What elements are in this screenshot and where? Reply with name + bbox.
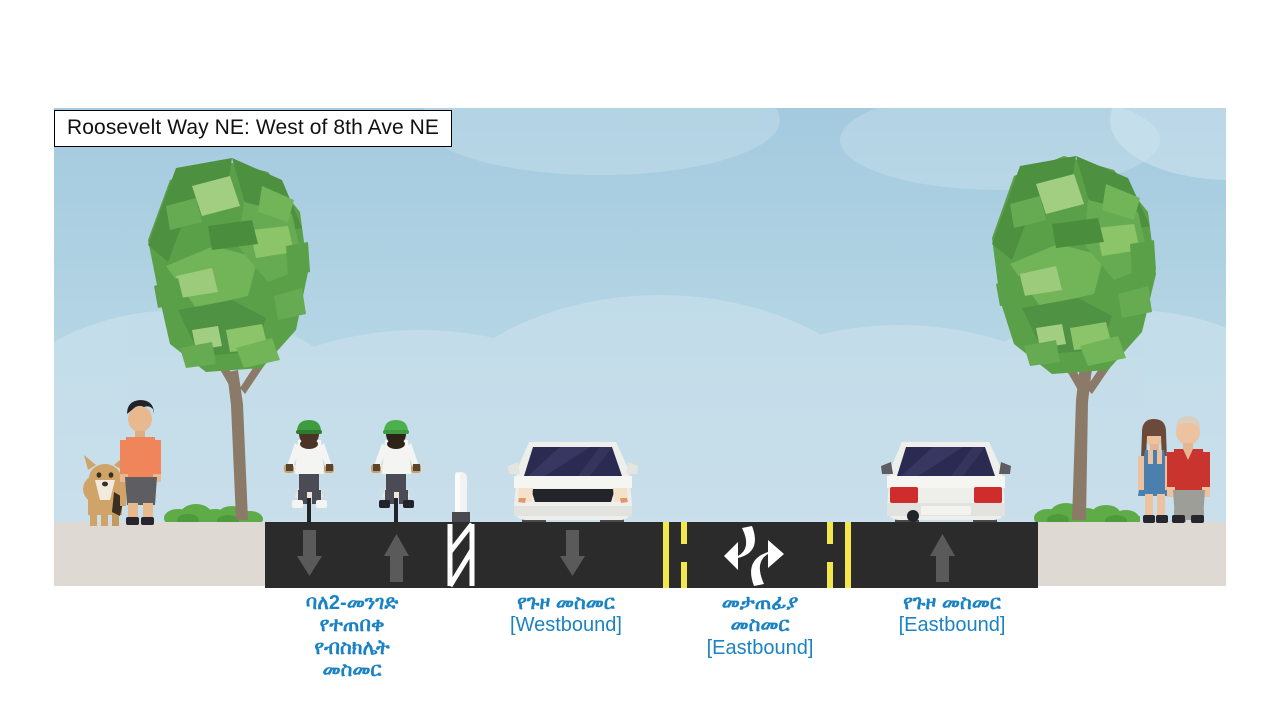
lane-label-line-2: የተጠበቀ <box>264 614 440 636</box>
roadway-surface <box>265 522 1038 588</box>
taillight-left <box>890 487 918 503</box>
location-title-plate: Roosevelt Way NE: West of 8th Ave NE <box>54 110 452 147</box>
lane-label-english: [Eastbound] <box>862 614 1042 636</box>
lane-label-amharic: የጉዞ መስመር <box>862 592 1042 614</box>
license-plate <box>921 506 971 515</box>
yellow-solid-right <box>845 522 851 588</box>
page-title: Roosevelt Way NE: West of 8th Ave NE <box>67 116 439 139</box>
tree-canopy <box>148 158 310 372</box>
car-eastbound <box>881 442 1011 532</box>
exhaust-pipe <box>907 510 919 522</box>
lane-label-center-turn-lane: መታጠፊያ መስመር [Eastbound] <box>666 592 854 659</box>
lane-label-line-1: መታጠፊያ <box>666 592 854 614</box>
lane-label-english: [Westbound] <box>480 614 652 636</box>
lane-label-line-2: መስመር <box>666 614 854 636</box>
shorts <box>125 477 157 505</box>
front-grille <box>531 489 615 502</box>
roadway <box>265 522 1038 588</box>
shirt <box>124 437 157 477</box>
tree-canopy <box>992 156 1156 374</box>
taillight-right <box>974 487 1002 503</box>
lane-label-amharic: የጉዞ መስመር <box>480 592 652 614</box>
lane-label-travel-lane-westbound: የጉዞ መስመር [Westbound] <box>480 592 652 637</box>
yellow-solid-left <box>663 522 669 588</box>
lane-label-english: [Eastbound] <box>666 637 854 659</box>
lane-label-line-1: ባለ2-መንገድ <box>264 592 440 614</box>
lane-label-travel-lane-eastbound: የጉዞ መስመር [Eastbound] <box>862 592 1042 637</box>
lane-label-line-3: የብስክሌት <box>264 637 440 659</box>
lane-label-protected-bike-lane: ባለ2-መንገድ የተጠበቀ የብስክሌት መስመር <box>264 592 440 682</box>
car-westbound <box>508 442 638 532</box>
lane-label-line-4: መስመር <box>264 659 440 681</box>
